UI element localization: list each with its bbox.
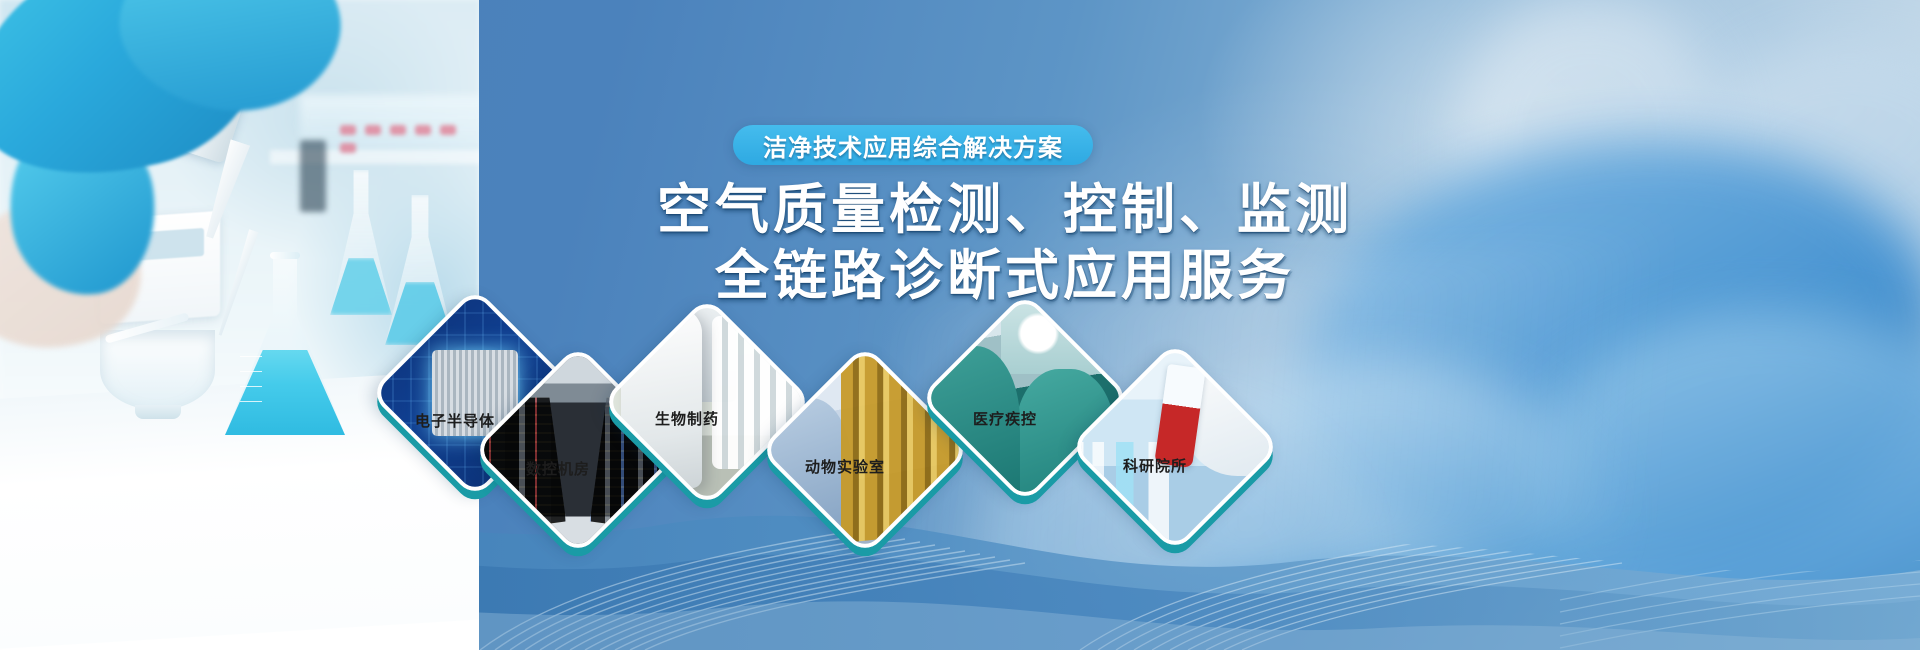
industry-card-label-animal-lab: 动物实验室 bbox=[745, 456, 945, 477]
industry-card-label-biopharma: 生物制药 bbox=[587, 408, 787, 429]
industry-card-label-datacenter: 数控机房 bbox=[458, 458, 658, 479]
industry-card-label-medical: 医疗疾控 bbox=[905, 408, 1105, 429]
hero-banner: 洁净技术应用综合解决方案 空气质量检测、控制、监测 全链路诊断式应用服务 电子半… bbox=[0, 0, 1920, 650]
industry-card-label-research: 科研院所 bbox=[1055, 455, 1255, 476]
industry-card-list: 电子半导体 数控机房 生物制药 动物实验室 医疗疾控 bbox=[0, 0, 1920, 650]
